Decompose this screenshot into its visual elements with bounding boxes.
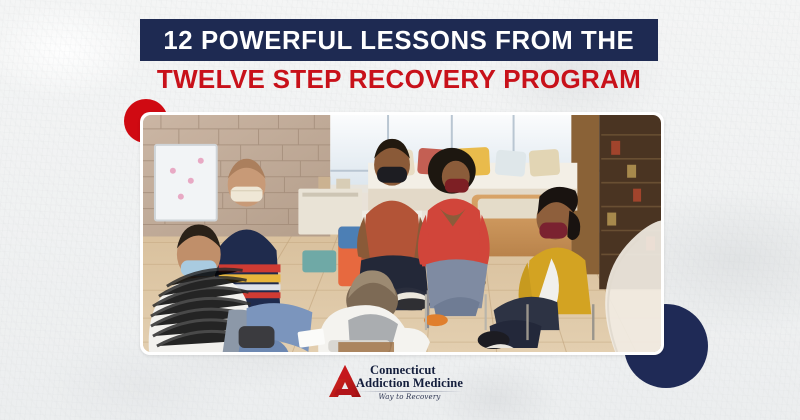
logo-wordmark: Connecticut Addiction Medicine Way to Re… — [356, 362, 463, 401]
headline-line-2: TWELVE STEP RECOVERY PROGRAM — [157, 64, 641, 95]
hero-photo-frame — [140, 112, 664, 355]
brand-logo[interactable]: Connecticut Addiction Medicine Way to Re… — [328, 362, 478, 402]
logo-divider — [356, 391, 463, 392]
hero-photo — [143, 115, 661, 352]
logo-tagline: Way to Recovery — [356, 393, 463, 401]
headline-line-1: 12 POWERFUL LESSONS FROM THE — [164, 25, 635, 56]
subheadline: TWELVE STEP RECOVERY PROGRAM — [140, 62, 658, 96]
promo-banner: 12 POWERFUL LESSONS FROM THE TWELVE STEP… — [0, 0, 800, 420]
headline-bar: 12 POWERFUL LESSONS FROM THE — [140, 19, 658, 61]
logo-line-2: Addiction Medicine — [356, 377, 463, 390]
logo-line-1: Connecticut — [370, 364, 463, 377]
